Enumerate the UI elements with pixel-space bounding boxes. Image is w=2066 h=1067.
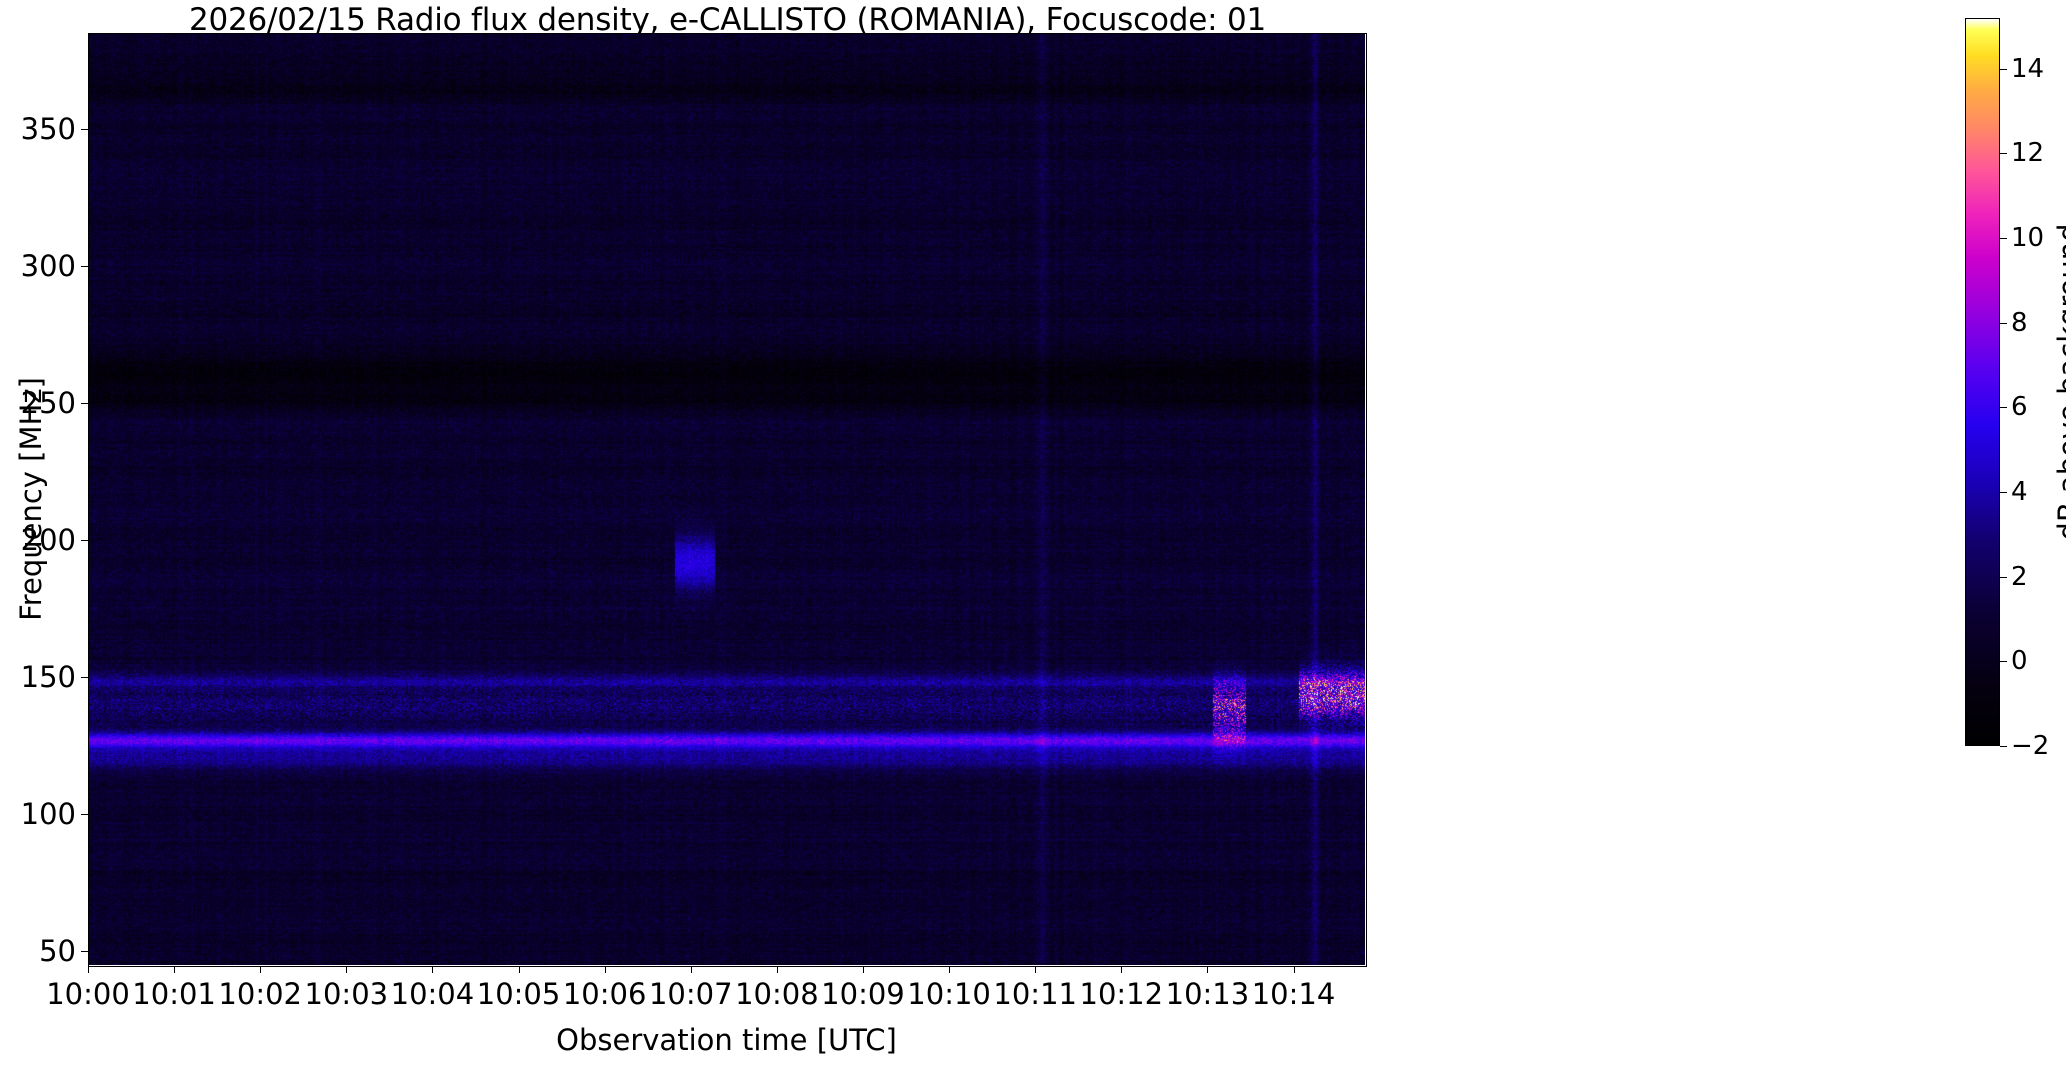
colorbar-tick-label: 10 xyxy=(2011,223,2044,253)
x-tick-mark xyxy=(519,966,520,973)
x-tick-label: 10:10 xyxy=(907,977,991,1011)
x-tick-label: 10:07 xyxy=(649,977,733,1011)
x-tick-mark xyxy=(777,966,778,973)
y-tick-mark xyxy=(81,814,88,815)
colorbar-tick-label: 2 xyxy=(2011,562,2028,592)
x-tick-mark xyxy=(260,966,261,973)
spectrogram-image xyxy=(88,33,1365,965)
y-tick-label: 350 xyxy=(21,112,76,146)
colorbar-tick-mark xyxy=(2000,577,2007,578)
colorbar-tick-label: −2 xyxy=(2011,731,2049,761)
x-tick-mark xyxy=(1207,966,1208,973)
x-tick-mark xyxy=(346,966,347,973)
figure-canvas: 2026/02/15 Radio flux density, e-CALLIST… xyxy=(0,0,2066,1067)
y-tick-mark xyxy=(81,677,88,678)
x-tick-label: 10:13 xyxy=(1166,977,1250,1011)
colorbar-tick-mark xyxy=(2000,238,2007,239)
y-tick-label: 300 xyxy=(21,249,76,283)
colorbar-tick-label: 6 xyxy=(2011,392,2028,422)
colorbar-tick-label: 8 xyxy=(2011,308,2028,338)
y-tick-mark xyxy=(81,266,88,267)
x-tick-label: 10:03 xyxy=(305,977,389,1011)
x-tick-label: 10:09 xyxy=(821,977,905,1011)
y-tick-label: 250 xyxy=(21,386,76,420)
y-tick-mark xyxy=(81,540,88,541)
y-tick-mark xyxy=(81,129,88,130)
x-tick-mark xyxy=(605,966,606,973)
colorbar xyxy=(1965,18,2000,746)
colorbar-tick-mark xyxy=(2000,69,2007,70)
colorbar-tick-mark xyxy=(2000,492,2007,493)
colorbar-tick-mark xyxy=(2000,323,2007,324)
x-tick-label: 10:02 xyxy=(218,977,302,1011)
colorbar-gradient xyxy=(1966,19,1999,745)
x-tick-label: 10:12 xyxy=(1080,977,1164,1011)
x-tick-mark xyxy=(863,966,864,973)
x-tick-mark xyxy=(1294,966,1295,973)
colorbar-tick-mark xyxy=(2000,407,2007,408)
x-tick-mark xyxy=(691,966,692,973)
colorbar-tick-mark xyxy=(2000,661,2007,662)
x-tick-label: 10:00 xyxy=(46,977,130,1011)
colorbar-label: dB above background xyxy=(2052,223,2066,540)
y-tick-label: 200 xyxy=(21,523,76,557)
x-tick-mark xyxy=(432,966,433,973)
x-tick-label: 10:08 xyxy=(735,977,819,1011)
x-tick-label: 10:14 xyxy=(1252,977,1336,1011)
colorbar-tick-mark xyxy=(2000,746,2007,747)
x-tick-label: 10:05 xyxy=(477,977,561,1011)
colorbar-tick-label: 12 xyxy=(2011,138,2044,168)
x-tick-mark xyxy=(1121,966,1122,973)
colorbar-tick-label: 4 xyxy=(2011,477,2028,507)
x-tick-mark xyxy=(1035,966,1036,973)
x-tick-mark xyxy=(949,966,950,973)
x-tick-label: 10:11 xyxy=(993,977,1077,1011)
x-tick-mark xyxy=(88,966,89,973)
colorbar-tick-label: 14 xyxy=(2011,54,2044,84)
colorbar-tick-label: 0 xyxy=(2011,646,2028,676)
y-tick-label: 50 xyxy=(39,934,76,968)
x-tick-label: 10:01 xyxy=(132,977,216,1011)
x-tick-mark xyxy=(174,966,175,973)
x-tick-label: 10:06 xyxy=(563,977,647,1011)
y-tick-label: 100 xyxy=(21,797,76,831)
colorbar-tick-mark xyxy=(2000,153,2007,154)
y-tick-label: 150 xyxy=(21,660,76,694)
spectrogram-plot-area xyxy=(88,33,1365,965)
y-tick-mark xyxy=(81,951,88,952)
x-axis-label: Observation time [UTC] xyxy=(556,1023,897,1057)
x-tick-label: 10:04 xyxy=(391,977,475,1011)
y-tick-mark xyxy=(81,403,88,404)
